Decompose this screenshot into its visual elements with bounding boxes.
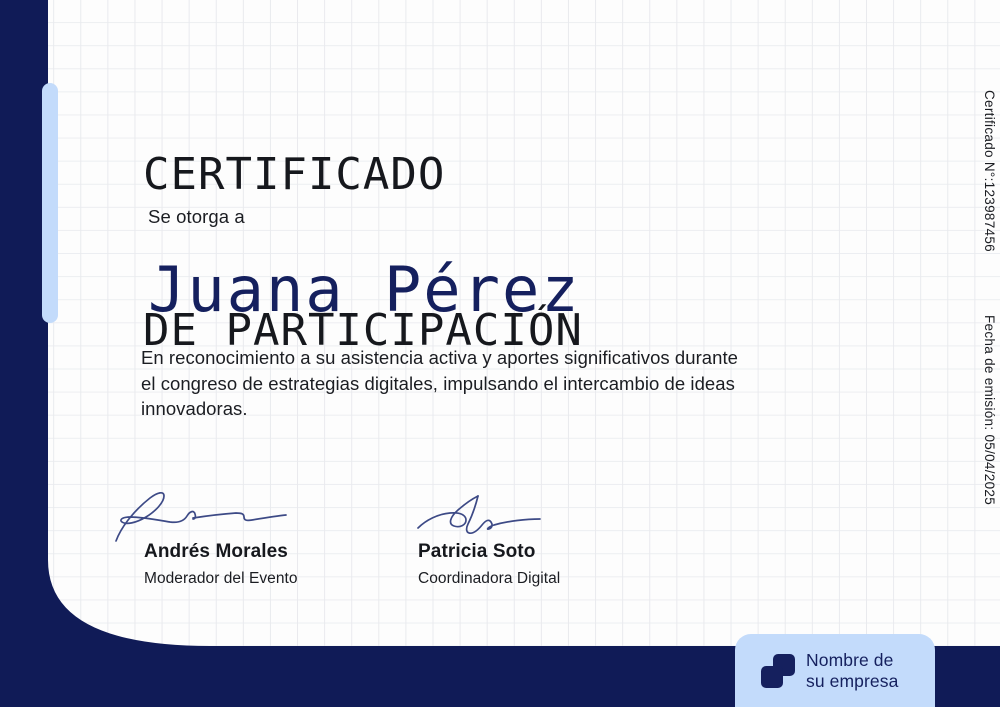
two-offset-squares-logo-icon: [761, 654, 795, 688]
recipient-name: Juana Pérez: [148, 252, 581, 328]
handwritten-signature-icon: [416, 487, 556, 543]
company-badge: Nombre de su empresa: [735, 634, 935, 707]
signature-name-2: Patricia Soto: [418, 541, 668, 563]
signature-block-2: Patricia Soto Coordinadora Digital: [408, 487, 668, 588]
signature-role-1: Moderador del Evento: [144, 570, 412, 588]
logo-square-bottom-left: [761, 666, 783, 688]
signature-role-2: Coordinadora Digital: [418, 570, 668, 588]
certificate-title-line-1: CERTIFICADO: [143, 149, 583, 201]
signature-name-1: Andrés Morales: [144, 541, 412, 563]
handwritten-signature-icon: [114, 487, 304, 543]
awarded-to-label: Se otorga a: [148, 206, 245, 228]
certificate-number-label: Certificado N°:123987456: [982, 90, 997, 252]
company-name-line-1: Nombre de: [806, 650, 898, 671]
signature-block-1: Andrés Morales Moderador del Evento: [112, 487, 412, 588]
company-name: Nombre de su empresa: [806, 650, 898, 692]
issue-date-label: Fecha de emisión: 05/04/2025: [982, 315, 997, 505]
company-name-line-2: su empresa: [806, 671, 898, 692]
certificate-document: CERTIFICADO DE PARTICIPACIÓN Se otorga a…: [0, 0, 1000, 707]
certificate-body-text: En reconocimiento a su asistencia activa…: [141, 345, 741, 422]
